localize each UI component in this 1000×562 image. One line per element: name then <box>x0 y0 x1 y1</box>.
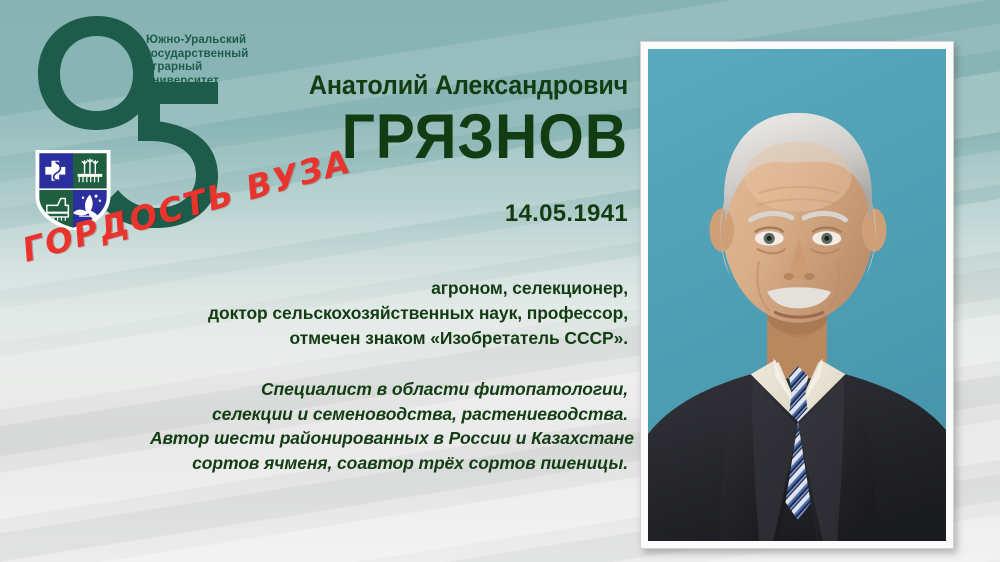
person-roles: агроном, селекционер, доктор сельскохозя… <box>150 276 628 351</box>
uni-line-1: Южно-Уральский <box>146 34 276 48</box>
uni-line-2: государственный <box>146 48 276 62</box>
person-biography: Специалист в области фитопатологии, селе… <box>150 377 628 475</box>
bio-line-1: Специалист в области фитопатологии, <box>150 377 628 402</box>
person-first-patronymic: Анатолий Александрович <box>183 70 628 100</box>
bio-line-3: Автор шести районированных в России и Ка… <box>150 426 628 451</box>
role-line-2: доктор сельскохозяйственных наук, профес… <box>150 301 628 326</box>
person-surname: ГРЯЗНОВ <box>183 102 628 172</box>
role-line-1: агроном, селекционер, <box>150 276 628 301</box>
portrait-photo <box>648 49 946 541</box>
portrait-frame <box>640 41 954 549</box>
bio-line-4: сортов ячменя, соавтор трёх сортов пшени… <box>150 451 628 476</box>
bio-line-2: селекции и семеноводства, растениеводств… <box>150 402 628 427</box>
person-info-column: Анатолий Александрович ГРЯЗНОВ 14.05.194… <box>150 70 628 475</box>
person-birth-date: 14.05.1941 <box>150 200 628 228</box>
poster-canvas: Южно-Уральский государственный аграрный … <box>0 0 1000 562</box>
portrait-illustration <box>648 49 946 541</box>
role-line-3: отмечен знаком «Изобретатель СССР». <box>150 326 628 351</box>
